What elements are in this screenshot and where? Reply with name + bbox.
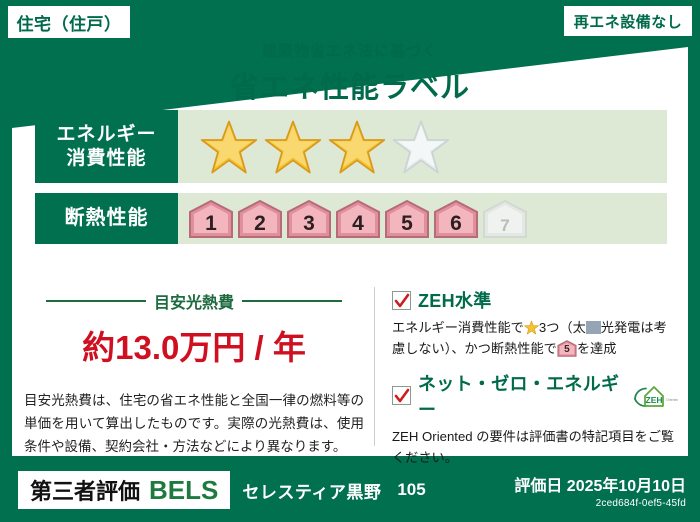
insulation-grade-3: 3 — [286, 199, 332, 239]
star-icon-filled-2 — [264, 119, 322, 175]
insulation-performance-row: 断熱性能 1 2 — [35, 193, 667, 244]
grade-number: 3 — [303, 213, 315, 239]
check-icon — [394, 293, 410, 309]
grade-number: 7 — [500, 217, 509, 239]
zeh-body-pre: エネルギー消費性能で — [392, 320, 524, 335]
redacted-character — [586, 321, 601, 334]
utility-cost-heading-text: 目安光熱費 — [154, 289, 234, 313]
energy-performance-label: 住宅（住戸） 再エネ設備なし 建築物省エネ法に基づく 省エネ性能ラベル エネルギ… — [0, 0, 700, 522]
insulation-grade-scale: 1 2 3 — [188, 199, 528, 239]
insulation-grade-7: 7 — [482, 199, 528, 239]
zeh-standard-checkbox[interactable] — [392, 291, 411, 310]
label-subtitle: 建築物省エネ法に基づく — [0, 40, 700, 61]
insulation-grade-5: 5 — [384, 199, 430, 239]
utility-cost-value: 約13.0万円 / 年 — [24, 321, 364, 369]
star-icon-filled-3 — [328, 119, 386, 175]
evaluation-date: 評価日 2025年10月10日 — [514, 472, 686, 496]
star-icon-inline — [524, 320, 539, 335]
energy-consumption-label: エネルギー 消費性能 — [35, 110, 178, 183]
energy-label-line1: エネルギー — [56, 123, 156, 147]
label-details-area: 目安光熱費 約13.0万円 / 年 目安光熱費は、住宅の省エネ性能と全国一律の燃… — [24, 287, 678, 446]
insulation-label-text: 断熱性能 — [65, 206, 149, 231]
grade-number: 1 — [205, 213, 217, 239]
grade-number: 5 — [401, 213, 413, 239]
star-rating — [200, 119, 450, 175]
energy-consumption-row: エネルギー 消費性能 — [35, 110, 667, 183]
zeh-body-post: を達成 — [577, 341, 617, 356]
building-type-tag: 住宅（住戸） — [8, 6, 130, 38]
insulation-grade-2: 2 — [237, 199, 283, 239]
grade-badge-number: 5 — [557, 342, 577, 358]
zeh-standard-body: エネルギー消費性能で3つ（太光発電は考慮しない）、かつ断熱性能で5を達成 — [392, 317, 678, 360]
net-zero-energy-header: ネット・ゼロ・エネルギー ZEH Oriented — [392, 370, 678, 422]
insulation-grade-4: 4 — [335, 199, 381, 239]
insulation-performance-label: 断熱性能 — [35, 193, 178, 244]
star-icon-empty-4 — [392, 119, 450, 175]
page-title: 省エネ性能ラベル — [0, 64, 700, 106]
zeh-standard-title: ZEH水準 — [418, 287, 492, 313]
zeh-oriented-logo: ZEH Oriented — [632, 384, 678, 408]
insulation-performance-value: 1 2 3 — [178, 193, 667, 244]
grade-number: 2 — [254, 213, 266, 239]
star-icon-filled-1 — [200, 119, 258, 175]
room-number: 105 — [397, 480, 425, 500]
net-zero-energy-checkbox[interactable] — [392, 386, 411, 405]
building-name: セレスティア黒野 — [242, 478, 381, 503]
evaluation-date-label: 評価日 — [514, 478, 562, 495]
bels-logo-text: BELS — [149, 475, 218, 506]
label-title-block: 建築物省エネ法に基づく 省エネ性能ラベル — [0, 40, 700, 106]
net-zero-energy-block: ネット・ゼロ・エネルギー ZEH Oriented ZEH Oriented の… — [392, 370, 678, 469]
insulation-grade-1: 1 — [188, 199, 234, 239]
grade-number: 4 — [352, 213, 364, 239]
renewable-equipment-tag: 再エネ設備なし — [564, 6, 692, 36]
performance-panel: エネルギー 消費性能 — [35, 110, 667, 254]
utility-cost-note: 目安光熱費は、住宅の省エネ性能と全国一律の燃料等の単価を用いて算出したものです。… — [24, 389, 364, 459]
evaluation-date-value: 2025年10月10日 — [567, 478, 686, 495]
zeh-column: ZEH水準 エネルギー消費性能で3つ（太光発電は考慮しない）、かつ断熱性能で5を… — [374, 287, 678, 446]
insulation-grade-badge: 5 — [557, 340, 577, 357]
svg-text:Oriented: Oriented — [666, 398, 678, 402]
zeh-standard-header: ZEH水準 — [392, 287, 678, 313]
utility-cost-column: 目安光熱費 約13.0万円 / 年 目安光熱費は、住宅の省エネ性能と全国一律の燃… — [24, 287, 374, 446]
energy-consumption-value — [178, 110, 667, 183]
insulation-grade-6: 6 — [433, 199, 479, 239]
evaluation-id: 2ced684f-0ef5-45fd — [514, 498, 686, 509]
bels-badge: 第三者評価 BELS — [18, 471, 230, 509]
zeh-body-starcount: 3つ（太 — [539, 320, 586, 335]
zeh-standard-block: ZEH水準 エネルギー消費性能で3つ（太光発電は考慮しない）、かつ断熱性能で5を… — [392, 287, 678, 360]
net-zero-energy-title: ネット・ゼロ・エネルギー — [418, 370, 623, 422]
divider-left — [46, 300, 146, 302]
check-icon — [394, 388, 410, 404]
utility-cost-heading: 目安光熱費 — [24, 289, 364, 313]
label-footer: 第三者評価 BELS セレスティア黒野 105 評価日 2025年10月10日 … — [0, 458, 700, 522]
divider-right — [242, 300, 342, 302]
third-party-eval-text: 第三者評価 — [30, 474, 140, 506]
svg-text:ZEH: ZEH — [646, 395, 663, 405]
energy-label-line2: 消費性能 — [66, 147, 146, 171]
evaluation-info: 評価日 2025年10月10日 2ced684f-0ef5-45fd — [514, 472, 686, 509]
zeh-logo-icon: ZEH Oriented — [632, 384, 678, 408]
grade-number: 6 — [450, 213, 462, 239]
